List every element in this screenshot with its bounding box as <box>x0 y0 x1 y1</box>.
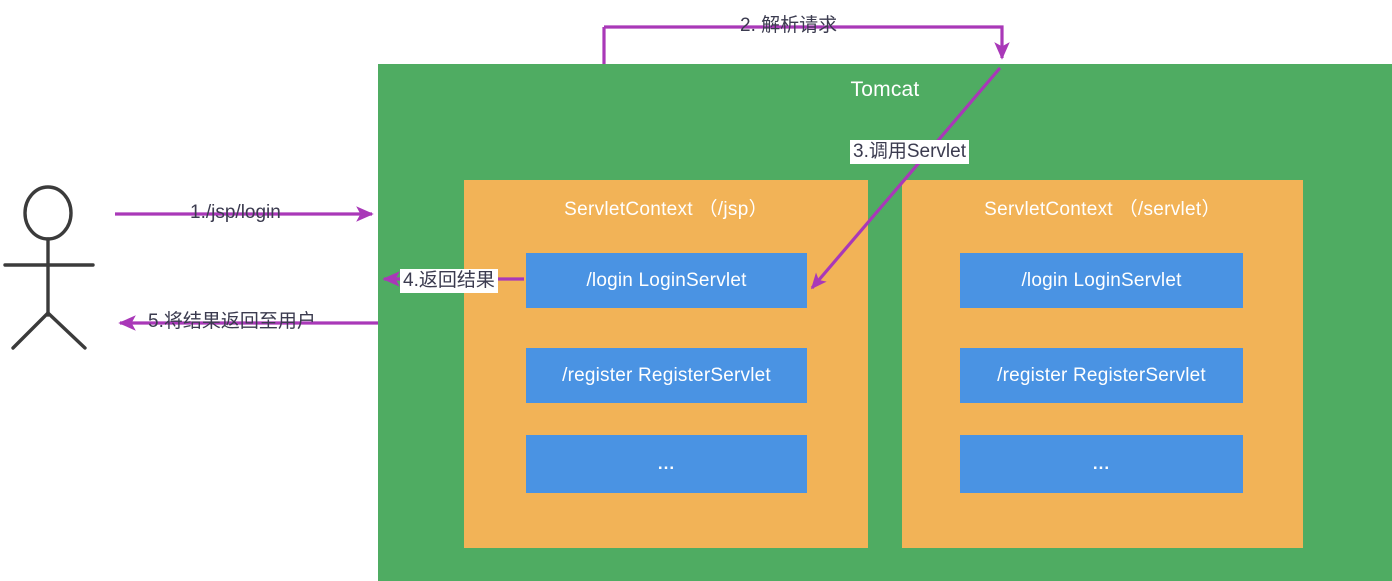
stick-figure-right-leg <box>48 313 85 348</box>
arrow-2-label: 2. 解析请求 <box>740 15 837 37</box>
stick-figure-left-leg <box>13 313 48 348</box>
diagram-canvas: Tomcat ServletContext （/jsp） /login Logi… <box>0 0 1392 581</box>
arrow-4-label: 4.返回结果 <box>400 269 498 293</box>
user-stick-figure <box>5 187 93 348</box>
arrow-5-label: 5.将结果返回至用户 <box>148 311 316 333</box>
arrow-1-label: 1./jsp/login <box>190 202 281 224</box>
arrow-3-label: 3.调用Servlet <box>850 140 969 164</box>
diagram-vector-layer <box>0 0 1392 581</box>
stick-figure-head <box>25 187 71 239</box>
arrow-3-invoke-servlet <box>812 68 1000 288</box>
